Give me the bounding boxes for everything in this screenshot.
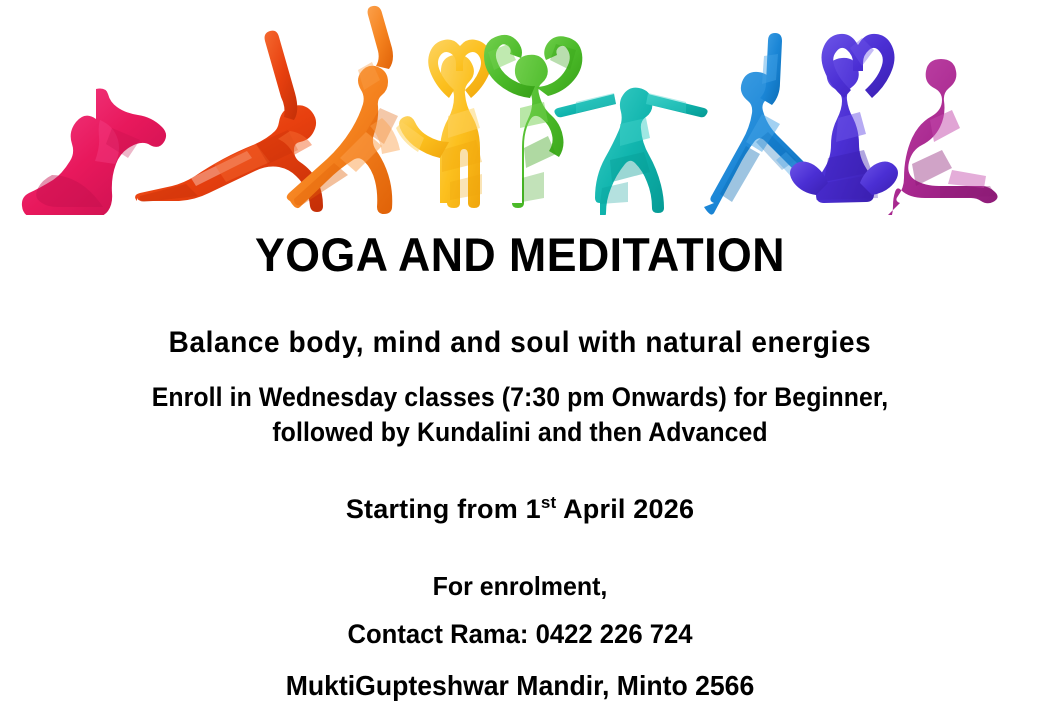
contact-line: Contact Rama: 0422 226 724 — [26, 617, 1014, 651]
cobra-pose-figure — [880, 59, 998, 215]
starting-date-line: Starting from 1st April 2026 — [0, 492, 1040, 526]
tree-pose-figure — [396, 40, 492, 208]
ordinal-suffix: st — [541, 493, 557, 512]
dancer-pose-figure — [484, 35, 582, 208]
enrolment-label: For enrolment, — [21, 570, 1019, 603]
venue-line: MuktiGupteshwar Mandir, Minto 2566 — [26, 668, 1014, 703]
warrior-two-pose-figure — [554, 88, 707, 215]
enroll-line-2: followed by Kundalini and then Advanced — [42, 415, 999, 449]
yoga-silhouettes-banner — [0, 0, 1040, 215]
page-title: YOGA AND MEDITATION — [26, 228, 1014, 282]
lotus-pose-figure — [790, 34, 898, 203]
poster-subtitle: Balance body, mind and soul with natural… — [36, 325, 1003, 361]
yoga-poster: YOGA AND MEDITATION Balance body, mind a… — [0, 0, 1040, 720]
starting-date-prefix: Starting from 1 — [346, 494, 541, 524]
side-plank-pose-figure — [135, 31, 323, 212]
yoga-silhouettes-svg — [0, 0, 1040, 215]
starting-date-suffix: April 2026 — [556, 494, 694, 524]
enroll-line-1: Enroll in Wednesday classes (7:30 pm Onw… — [42, 380, 999, 414]
